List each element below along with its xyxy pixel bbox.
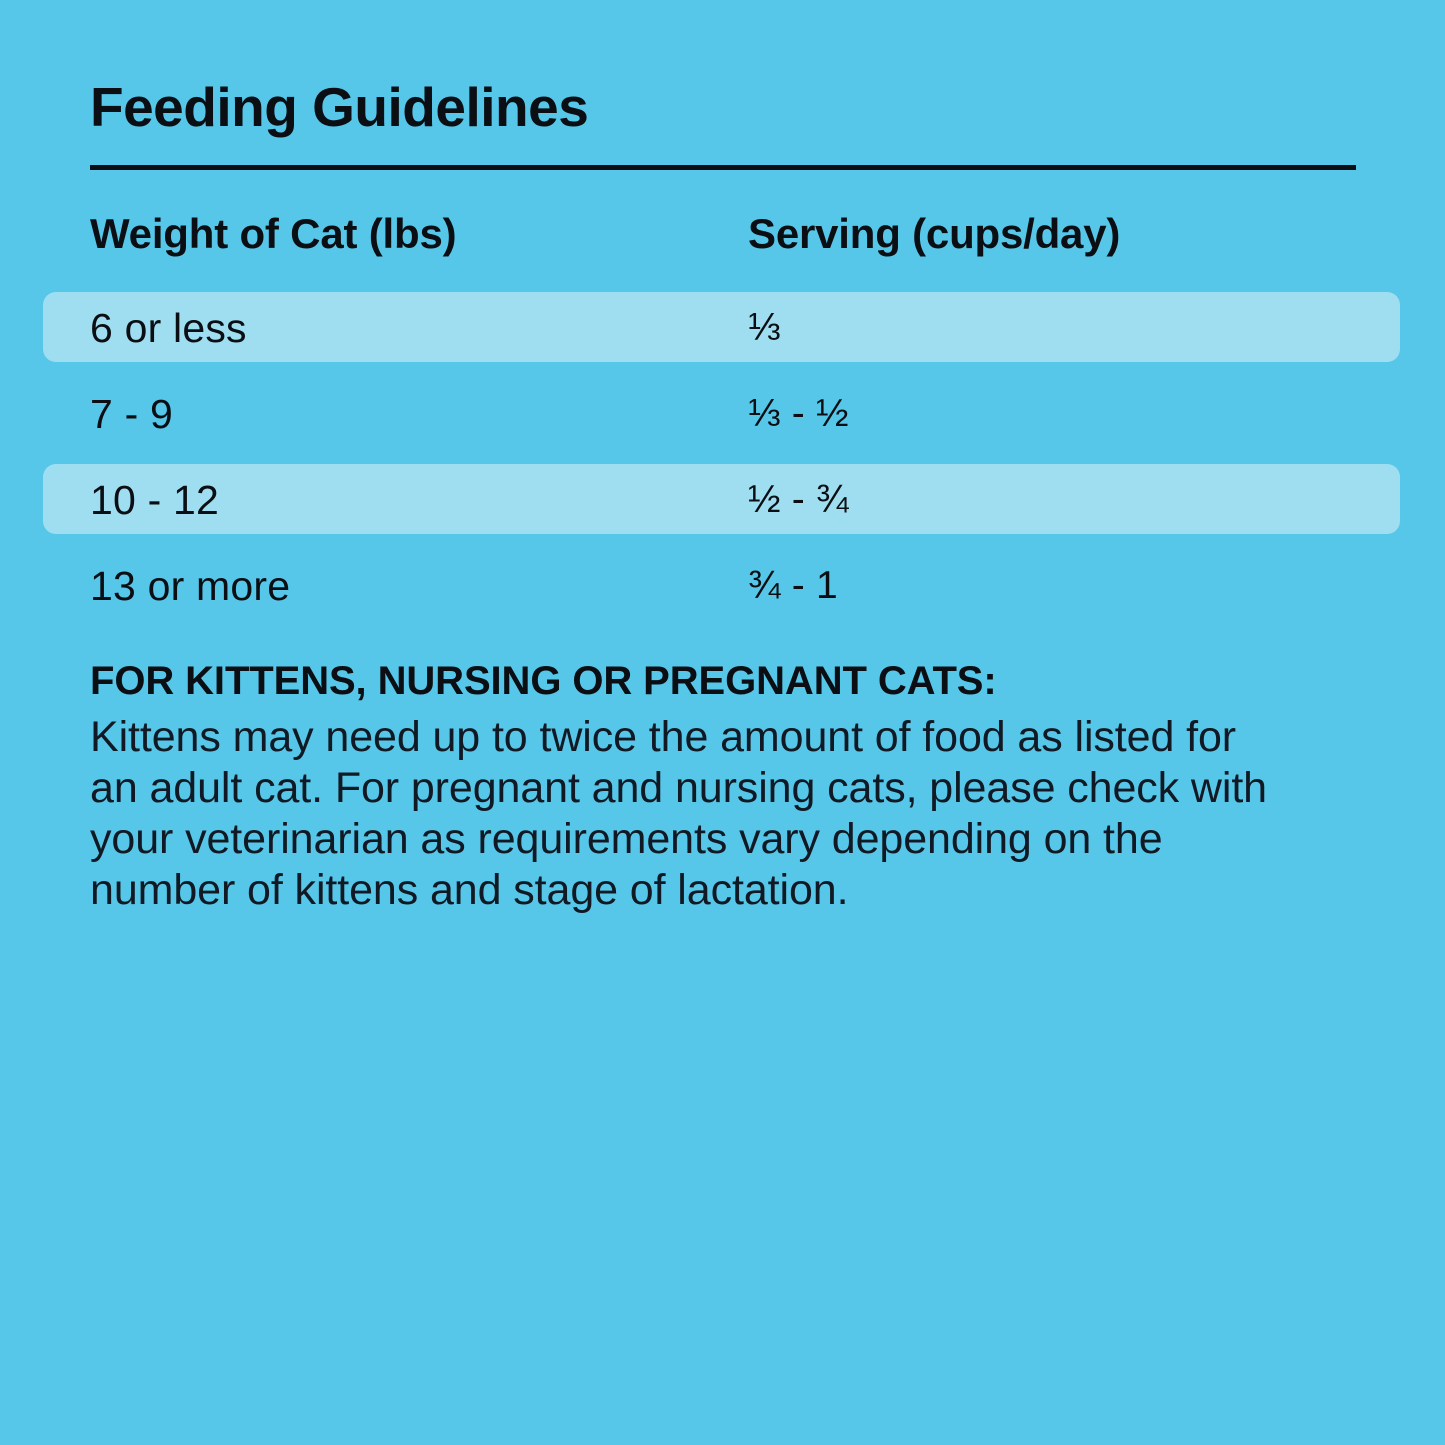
- feeding-guidelines-panel: Feeding Guidelines Weight of Cat (lbs) S…: [0, 0, 1445, 1445]
- cell-serving: ½ - ¾: [748, 476, 849, 524]
- kitten-note: FOR KITTENS, NURSING OR PREGNANT CATS: K…: [90, 655, 1330, 916]
- row-highlight-band: [43, 378, 1400, 448]
- cell-weight: 6 or less: [90, 304, 247, 352]
- title-divider: [90, 165, 1356, 170]
- table-header-row: Weight of Cat (lbs) Serving (cups/day): [0, 196, 1445, 292]
- cell-serving: ⅓ - ½: [748, 390, 849, 438]
- table-row: 7 - 9 ⅓ - ½: [0, 378, 1445, 464]
- cell-weight: 10 - 12: [90, 476, 219, 524]
- table-row: 10 - 12 ½ - ¾: [0, 464, 1445, 550]
- cell-serving: ¾ - 1: [748, 562, 838, 610]
- cell-weight: 13 or more: [90, 562, 290, 610]
- column-header-weight: Weight of Cat (lbs): [90, 210, 456, 258]
- table-body: 6 or less ⅓ 7 - 9 ⅓ - ½ 10 - 12 ½ - ¾ 13…: [0, 292, 1445, 636]
- note-body: Kittens may need up to twice the amount …: [90, 712, 1290, 916]
- row-highlight-band: [43, 464, 1400, 534]
- table-row: 13 or more ¾ - 1: [0, 550, 1445, 636]
- column-header-serving: Serving (cups/day): [748, 210, 1120, 258]
- page-title: Feeding Guidelines: [90, 76, 588, 138]
- cell-weight: 7 - 9: [90, 390, 173, 438]
- feeding-table: Weight of Cat (lbs) Serving (cups/day) 6…: [0, 196, 1445, 636]
- cell-serving: ⅓: [748, 304, 781, 352]
- table-row: 6 or less ⅓: [0, 292, 1445, 378]
- note-heading: FOR KITTENS, NURSING OR PREGNANT CATS:: [90, 655, 1330, 707]
